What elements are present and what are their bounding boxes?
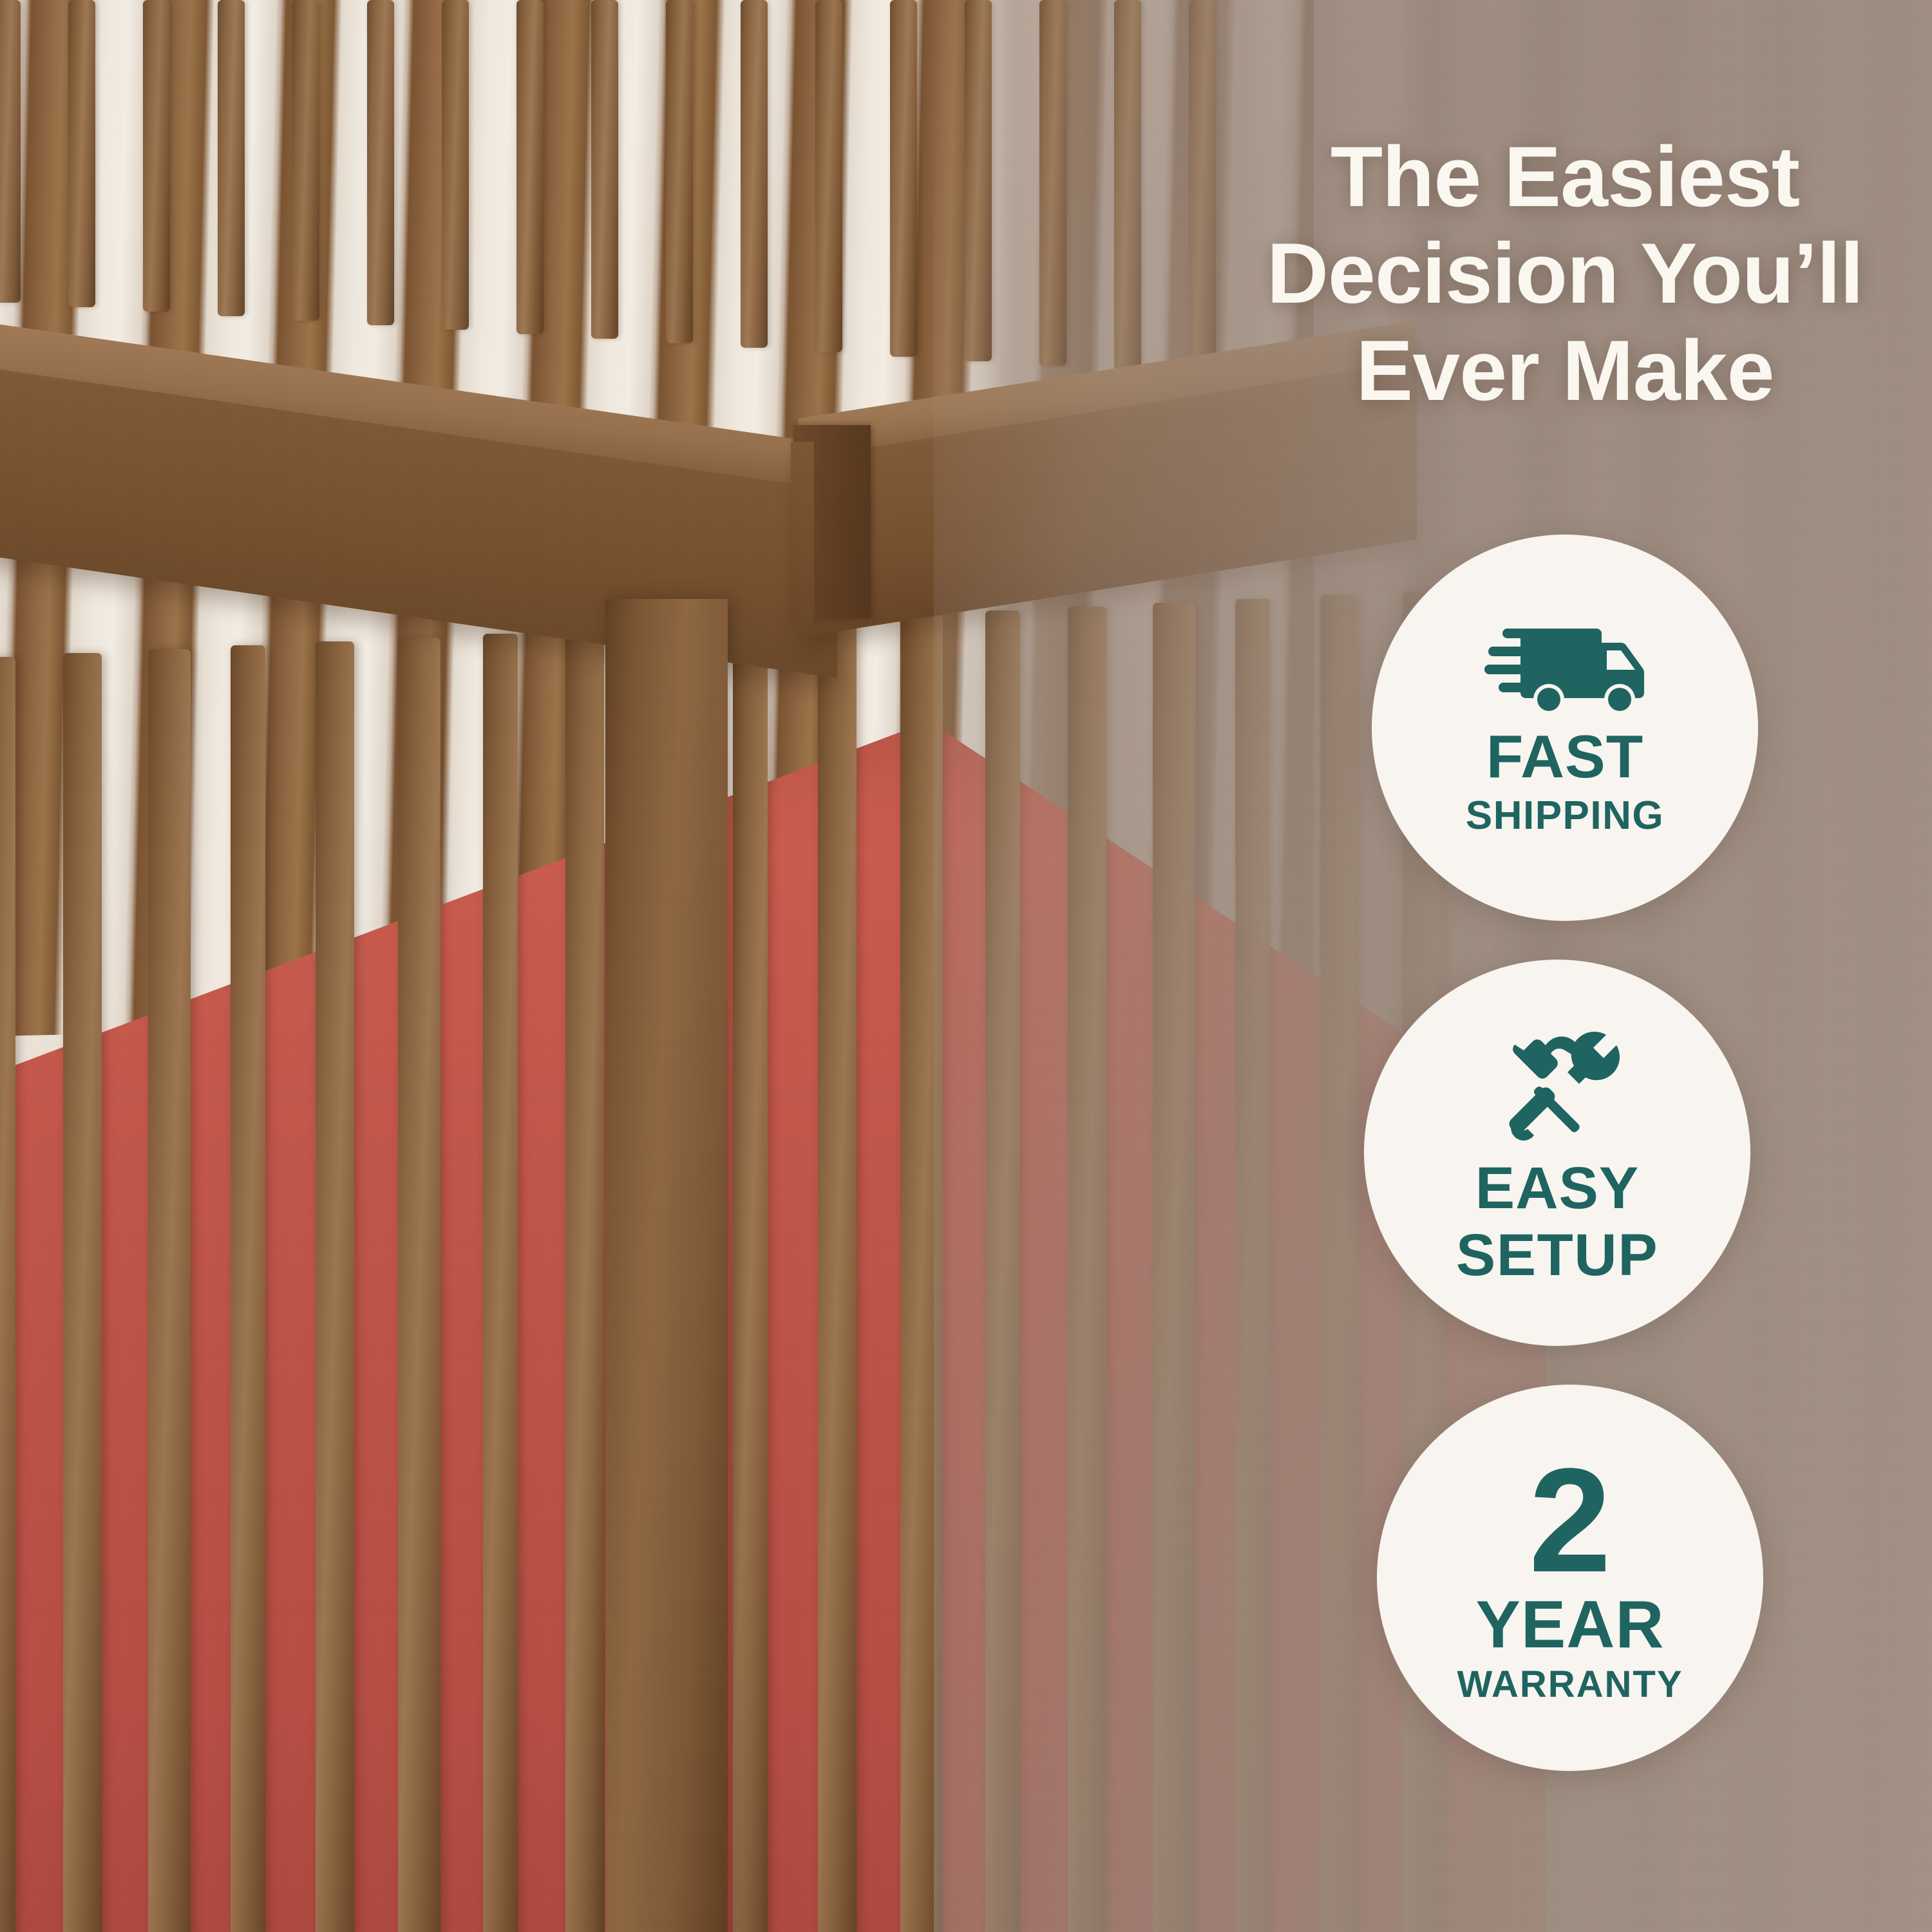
page-title: The Easiest Decision You’ll Ever Make <box>1224 129 1906 419</box>
marketing-image-canvas: The Easiest Decision You’ll Ever Make FA… <box>0 0 1932 1932</box>
headline-line-2: Decision You’ll <box>1224 225 1906 322</box>
headline-line-3: Ever Make <box>1224 323 1906 419</box>
badge-easy-setup-line1: EASY <box>1475 1159 1640 1218</box>
badge-easy-setup-line2: SETUP <box>1456 1226 1658 1285</box>
crib-corner-joint-face <box>791 442 814 626</box>
crib-front-leg <box>605 599 728 1932</box>
hammer-wrench-icon <box>1490 1021 1625 1150</box>
badge-fast-shipping-line2: SHIPPING <box>1466 796 1664 836</box>
badge-fast-shipping: FAST SHIPPING <box>1372 535 1758 921</box>
badge-fast-shipping-line1: FAST <box>1486 726 1643 787</box>
badge-two-year-warranty: 2 YEAR WARRANTY <box>1377 1385 1763 1771</box>
badge-warranty-number: 2 <box>1529 1452 1611 1589</box>
headline-line-1: The Easiest <box>1224 129 1906 225</box>
badge-warranty-line1: YEAR <box>1476 1591 1665 1658</box>
badge-easy-setup: EASY SETUP <box>1364 960 1750 1346</box>
badge-warranty-line2: WARRANTY <box>1457 1666 1683 1703</box>
delivery-truck-icon <box>1484 620 1645 715</box>
